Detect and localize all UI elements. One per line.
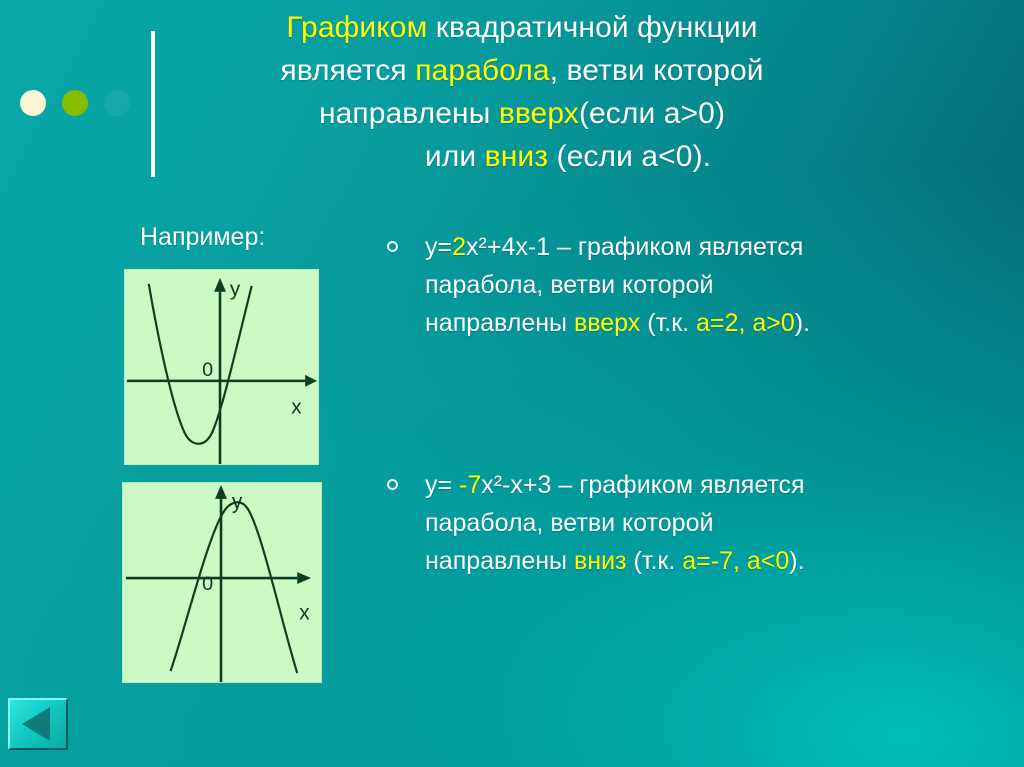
parabola-curve-down [171,502,298,673]
bullet-circle-icon [387,479,398,490]
decor-dot-olive-icon [62,90,88,116]
decor-dot-cream-icon [20,90,46,116]
y-axis-arrow-icon [214,278,226,292]
list-item-text: y=2x²+4x-1 – графиком является парабола,… [387,228,857,342]
example-label: Например: [140,222,265,252]
x-axis-label: x [299,602,310,625]
list-item-text: y= -7x²-x+3 – графиком является парабола… [387,466,857,580]
title-line-3: направлены вверх(если a>0) [172,92,872,135]
x-axis-arrow-icon [297,572,311,584]
list-item: y=2x²+4x-1 – графиком является парабола,… [387,228,857,342]
title-accent-bar [151,31,155,177]
origin-label: 0 [202,359,213,381]
page-title: Графиком квадратичной функции является п… [172,6,872,178]
graph-parabola-up: y x 0 [124,269,319,465]
decor-dot-faint-icon [104,90,130,116]
slide-canvas: Графиком квадратичной функции является п… [0,0,1024,767]
bullet-circle-icon [387,241,398,252]
graph-parabola-down-svg: y x 0 [123,483,321,682]
title-line-2: является парабола, ветви которой [172,49,872,92]
title-line-4: или вниз (если a<0). [172,135,872,178]
x-axis-label: x [291,396,302,419]
parabola-curve-up [149,284,252,444]
list-item: y= -7x²-x+3 – графиком является парабола… [387,466,857,580]
graph-parabola-down: y x 0 [122,482,322,683]
title-line-1: Графиком квадратичной функции [172,6,872,49]
back-arrow-icon [22,707,50,741]
origin-label: 0 [202,573,213,595]
back-nav-button[interactable] [8,698,68,750]
y-axis-arrow-icon [215,485,227,499]
y-axis-label: y [232,491,243,514]
graph-parabola-up-svg: y x 0 [125,270,318,464]
y-axis-label: y [230,278,241,301]
x-axis-arrow-icon [305,375,317,387]
